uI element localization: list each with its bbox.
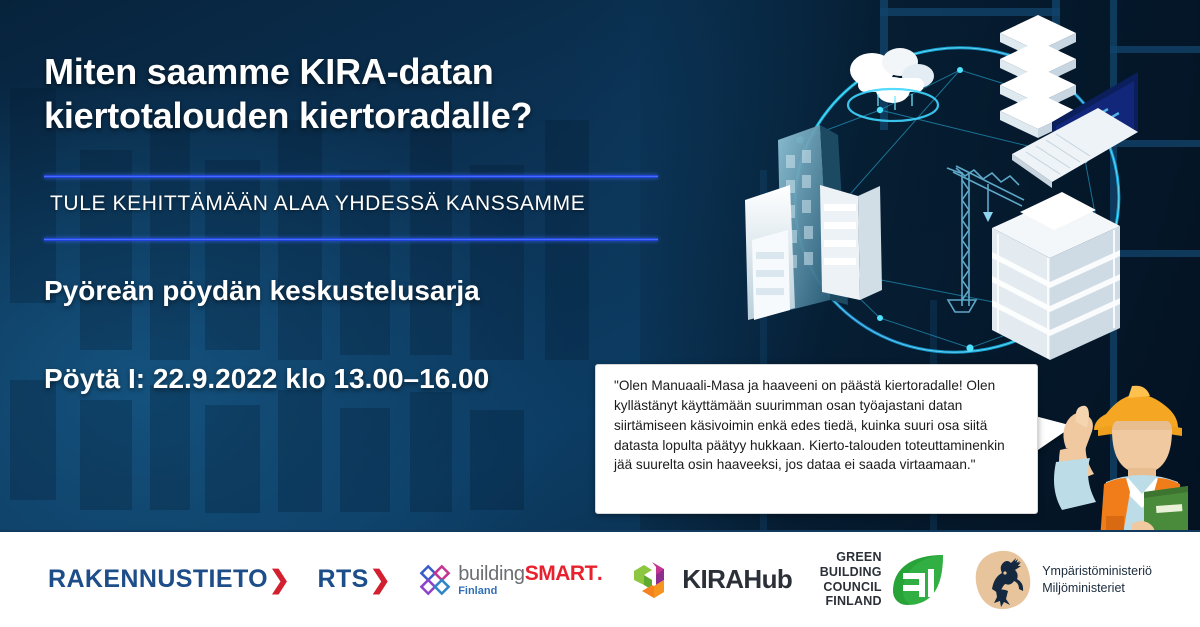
gbc-line-2: BUILDING [820,565,882,580]
logo-buildingsmart-finland[interactable]: buildingSMART. Finland [418,563,603,597]
speech-bubble-text: "Olen Manuaali-Masa ja haaveeni on pääst… [614,378,1005,472]
kirahub-hexagon-icon [630,559,674,601]
buildingsmart-building-text: building [458,564,525,584]
logo-rts[interactable]: RTS ❯ [318,565,391,595]
series-title: Pyöreän pöydän keskustelusarja [44,275,480,307]
event-date: Pöytä I: 22.9.2022 klo 13.00–16.00 [44,363,489,395]
buildingsmart-country-text: Finland [458,586,603,597]
gbc-line-4: FINLAND [820,594,882,609]
logo-green-building-council-finland[interactable]: GREEN BUILDING COUNCIL FINLAND [820,550,947,609]
gbc-line-3: COUNCIL [820,580,882,595]
page-title: Miten saamme KIRA-datan kiertotalouden k… [44,50,744,138]
divider-top [44,175,658,178]
subheading: TULE KEHITTÄMÄÄN ALAA YHDESSÄ KANSSAMME [50,192,670,216]
speech-bubble: "Olen Manuaali-Masa ja haaveeni on pääst… [595,364,1038,514]
ym-line-2: Miljöministeriet [1042,580,1152,597]
poster-canvas: Miten saamme KIRA-datan kiertotalouden k… [0,0,1200,627]
finland-lion-crest-icon [974,549,1032,611]
logo-rakennustieto[interactable]: RAKENNUSTIETO ❯ [48,565,290,595]
partner-logo-bar: RAKENNUSTIETO ❯ RTS ❯ [0,530,1200,627]
gbc-leaf-icon [889,551,947,609]
rts-wordmark: RTS [318,565,369,594]
logo-ymparistoministerio[interactable]: Ympäristöministeriö Miljöministeriet [974,549,1152,611]
ym-line-1: Ympäristöministeriö [1042,563,1152,580]
buildingsmart-smart-text: SMART [525,563,597,584]
construction-worker-character [1020,370,1200,540]
rts-chevron-icon: ❯ [370,565,391,595]
divider-bottom [44,238,658,241]
logo-kirahub[interactable]: KIRAHub [630,559,792,601]
gbc-line-1: GREEN [820,550,882,565]
rakennustieto-chevron-icon: ❯ [269,565,290,595]
rakennustieto-wordmark: RAKENNUSTIETO [48,565,268,594]
buildingsmart-dot: . [597,563,603,584]
kirahub-wordmark: KIRAHub [682,564,792,595]
buildingsmart-mark-icon [418,563,452,597]
